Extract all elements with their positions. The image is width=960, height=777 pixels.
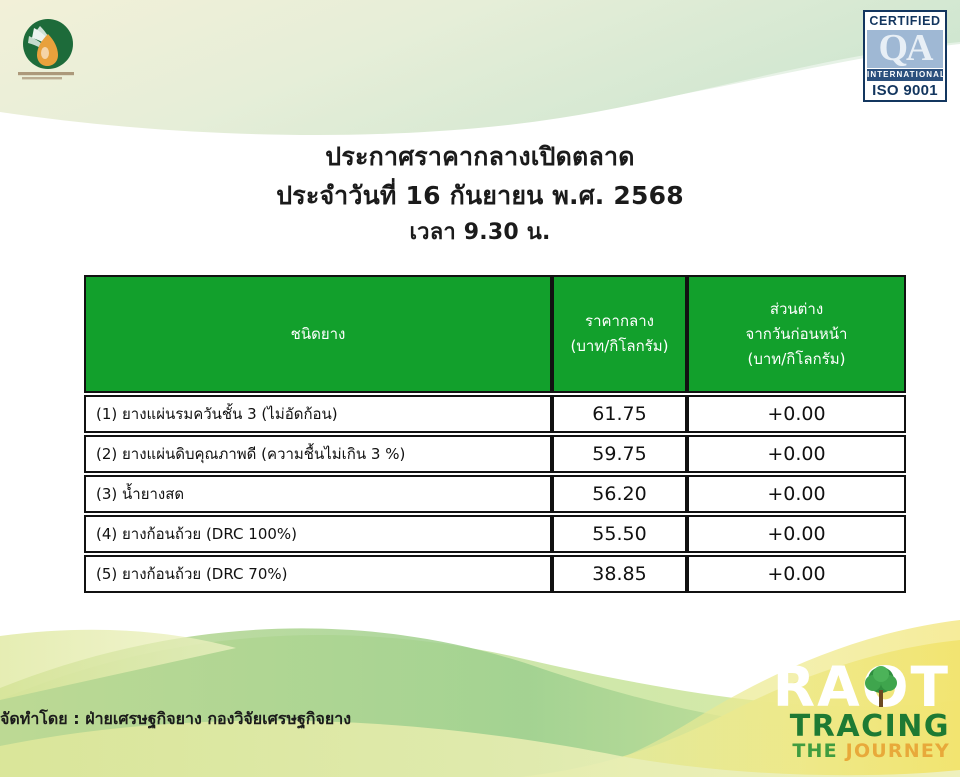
raot-subtagline-journey: JOURNEY — [846, 740, 950, 762]
cell-difference: +0.00 — [687, 475, 906, 513]
cell-rubber-type: (3) น้ำยางสด — [84, 475, 552, 513]
cell-rubber-type: (5) ยางก้อนถ้วย (DRC 70%) — [84, 555, 552, 593]
iso-standard-label: ISO 9001 — [865, 82, 945, 100]
cell-difference: +0.00 — [687, 515, 906, 553]
footer-credit: จัดทำโดย : ฝ่ายเศรษฐกิจยาง กองวิจัยเศรษฐ… — [0, 707, 351, 732]
raot-subtagline: THE JOURNEY — [740, 741, 954, 761]
announcement-date: ประจำวันที่ 16 กันยายน พ.ศ. 2568 — [0, 176, 960, 216]
announcement-time: เวลา 9.30 น. — [0, 216, 960, 250]
table-row: (5) ยางก้อนถ้วย (DRC 70%) 38.85 +0.00 — [84, 555, 906, 593]
qa-mark: QA — [867, 30, 943, 68]
raot-tagline: TRACING — [740, 711, 954, 743]
column-header-price: ราคากลาง (บาท/กิโลกรัม) — [552, 275, 687, 393]
column-header-difference-line1: ส่วนต่าง — [693, 297, 900, 322]
table-row: (3) น้ำยางสด 56.20 +0.00 — [84, 475, 906, 513]
cell-rubber-type: (1) ยางแผ่นรมควันชั้น 3 (ไม่อัดก้อน) — [84, 395, 552, 433]
column-header-rubber-type: ชนิดยาง — [84, 275, 552, 393]
cell-price: 38.85 — [552, 555, 687, 593]
cell-difference: +0.00 — [687, 395, 906, 433]
cell-price: 56.20 — [552, 475, 687, 513]
table-row: (2) ยางแผ่นดิบคุณภาพดี (ความชื้นไม่เกิน … — [84, 435, 906, 473]
cell-difference: +0.00 — [687, 435, 906, 473]
cell-price: 59.75 — [552, 435, 687, 473]
cell-difference: +0.00 — [687, 555, 906, 593]
column-header-price-unit: (บาท/กิโลกรัม) — [558, 334, 681, 359]
price-table-body: (1) ยางแผ่นรมควันชั้น 3 (ไม่อัดก้อน) 61.… — [84, 395, 906, 593]
table-row: (1) ยางแผ่นรมควันชั้น 3 (ไม่อัดก้อน) 61.… — [84, 395, 906, 433]
table-row: (4) ยางก้อนถ้วย (DRC 100%) 55.50 +0.00 — [84, 515, 906, 553]
raot-organization-logo — [12, 14, 90, 84]
certified-label: CERTIFIED — [865, 12, 945, 29]
tree-icon — [864, 665, 898, 709]
iso-certification-badge: CERTIFIED QA INTERNATIONAL ISO 9001 — [863, 10, 947, 102]
raot-brand-logo: RAOT TRACING THE JOURNEY — [740, 659, 954, 763]
international-label: INTERNATIONAL — [867, 69, 943, 81]
announcement-page: CERTIFIED QA INTERNATIONAL ISO 9001 ประก… — [0, 0, 960, 777]
raot-subtagline-the: THE — [792, 740, 837, 762]
cell-price: 61.75 — [552, 395, 687, 433]
page-title-block: ประกาศราคากลางเปิดตลาด ประจำวันที่ 16 กั… — [0, 138, 960, 250]
column-header-difference-line2: จากวันก่อนหน้า — [693, 322, 900, 347]
column-header-price-line1: ราคากลาง — [558, 309, 681, 334]
column-header-difference: ส่วนต่าง จากวันก่อนหน้า (บาท/กิโลกรัม) — [687, 275, 906, 393]
price-table: ชนิดยาง ราคากลาง (บาท/กิโลกรัม) ส่วนต่าง… — [84, 273, 906, 595]
cell-rubber-type: (2) ยางแผ่นดิบคุณภาพดี (ความชื้นไม่เกิน … — [84, 435, 552, 473]
table-header-row: ชนิดยาง ราคากลาง (บาท/กิโลกรัม) ส่วนต่าง… — [84, 275, 906, 393]
cell-rubber-type: (4) ยางก้อนถ้วย (DRC 100%) — [84, 515, 552, 553]
qa-mark-text: QA — [867, 30, 943, 67]
raot-brand-name: RAOT — [740, 659, 954, 715]
cell-price: 55.50 — [552, 515, 687, 553]
column-header-difference-unit: (บาท/กิโลกรัม) — [693, 347, 900, 372]
page-title: ประกาศราคากลางเปิดตลาด — [0, 138, 960, 176]
